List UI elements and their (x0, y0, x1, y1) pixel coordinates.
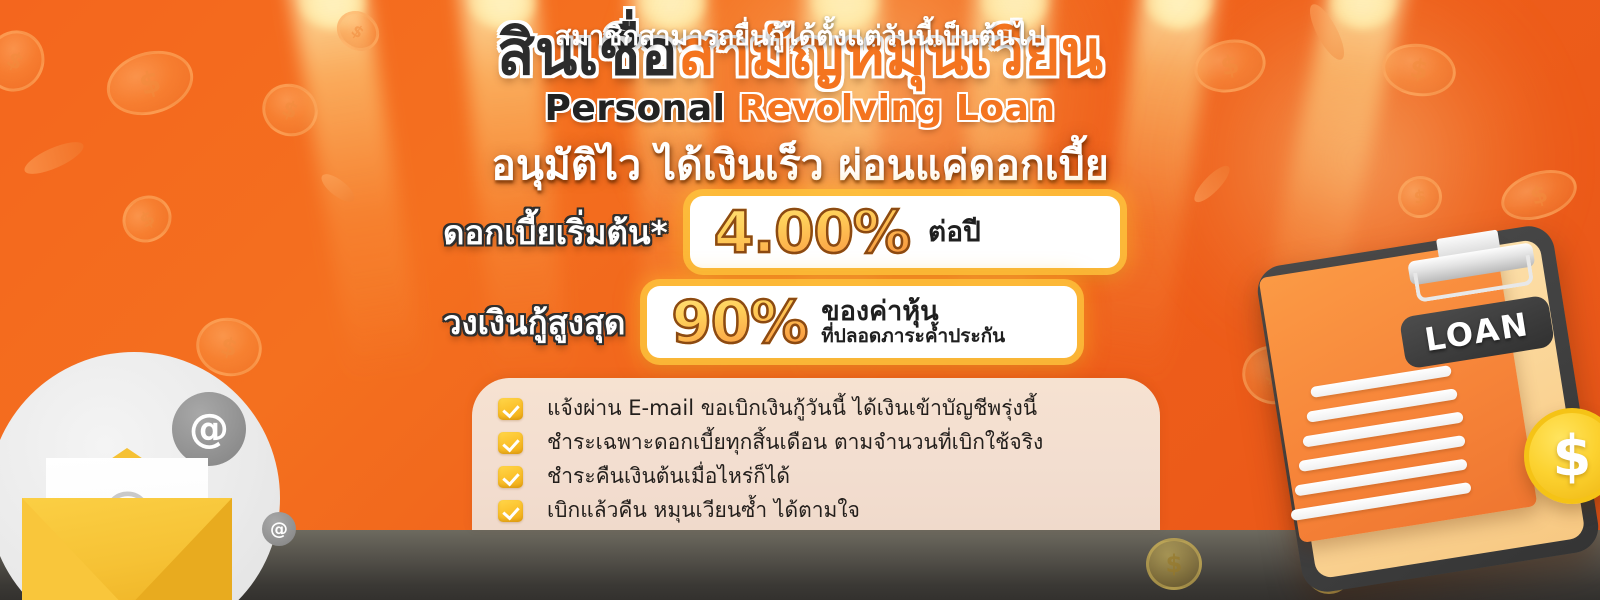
loan-clipboard-illustration: LOAN $ (1252, 228, 1600, 600)
rate-value-interest: 4.00% (714, 203, 910, 261)
check-icon (498, 500, 523, 522)
rate-label-credit-limit: วงเงินกู้สูงสุด (443, 296, 625, 349)
footer-text: สมาชิกสามารถยื่นกู้ได้ตั้งแต่วันนี้เป็นต… (0, 0, 1600, 70)
check-icon (498, 466, 523, 488)
checklist-item: ชำระคืนเงินต้นเมื่อไหร่ก็ได้ (498, 460, 1160, 493)
checklist-item-label: ชำระคืนเงินต้นเมื่อไหร่ก็ได้ (547, 460, 790, 493)
rate-unit-sub: ที่ปลอดภาระค้ำประกัน (821, 326, 1005, 347)
rate-row-credit-limit: วงเงินกู้สูงสุด 90% ของค่าหุ้น ที่ปลอดภา… (443, 286, 1077, 358)
email-illustration: @ @ @ @ @ (0, 370, 326, 600)
checklist-item-label: เบิกแล้วคืน หมุนเวียนซ้ำ ได้ตามใจ (547, 494, 860, 527)
rate-box-credit-limit: 90% ของค่าหุ้น ที่ปลอดภาระค้ำประกัน (647, 286, 1077, 358)
checklist-item: ชำระเฉพาะดอกเบี้ยทุกสิ้นเดือน ตามจำนวนที… (498, 426, 1160, 459)
checklist-item: เบิกแล้วคืน หมุนเวียนซ้ำ ได้ตามใจ (498, 494, 1160, 527)
check-icon (498, 398, 523, 420)
rate-label-interest: ดอกเบี้ยเริ่มต้น* (443, 206, 668, 259)
envelope-back (22, 498, 232, 600)
at-icon: @ (262, 512, 296, 546)
rate-value-credit-limit: 90% (671, 293, 807, 351)
headline-subtitle: Personal Revolving Loan (0, 88, 1600, 129)
footer-coin: $ (1146, 538, 1202, 590)
envelope-flap-left (22, 498, 128, 600)
checklist-item-label: แจ้งผ่าน E-mail ขอเบิกเงินกู้วันนี้ ได้เ… (547, 392, 1037, 425)
rate-unit-credit-limit: ของค่าหุ้น ที่ปลอดภาระค้ำประกัน (821, 297, 1005, 347)
checklist-item-label: ชำระเฉพาะดอกเบี้ยทุกสิ้นเดือน ตามจำนวนที… (547, 426, 1043, 459)
promo-banner: $ $ $ $ $ $ $ $ $ $ $ สินเชื่อสามัญหมุนเ… (0, 0, 1600, 600)
rate-row-interest: ดอกเบี้ยเริ่มต้น* 4.00% ต่อปี (443, 196, 1120, 268)
headline-subtitle-orange: Revolving Loan (739, 88, 1056, 129)
envelope: @ (22, 454, 232, 600)
rate-box-interest: 4.00% ต่อปี (690, 196, 1120, 268)
headline-tagline: อนุมัติไว ได้เงินเร็ว ผ่อนแค่ดอกเบี้ย (0, 133, 1600, 198)
checklist-item: แจ้งผ่าน E-mail ขอเบิกเงินกู้วันนี้ ได้เ… (498, 392, 1160, 425)
envelope-flap-right (126, 498, 232, 600)
check-icon (498, 432, 523, 454)
rate-unit-interest: ต่อปี (928, 210, 981, 254)
rate-unit-main: ของค่าหุ้น (821, 297, 1005, 326)
headline-subtitle-dark: Personal (544, 88, 725, 129)
benefits-checklist: แจ้งผ่าน E-mail ขอเบิกเงินกู้วันนี้ ได้เ… (472, 378, 1160, 530)
